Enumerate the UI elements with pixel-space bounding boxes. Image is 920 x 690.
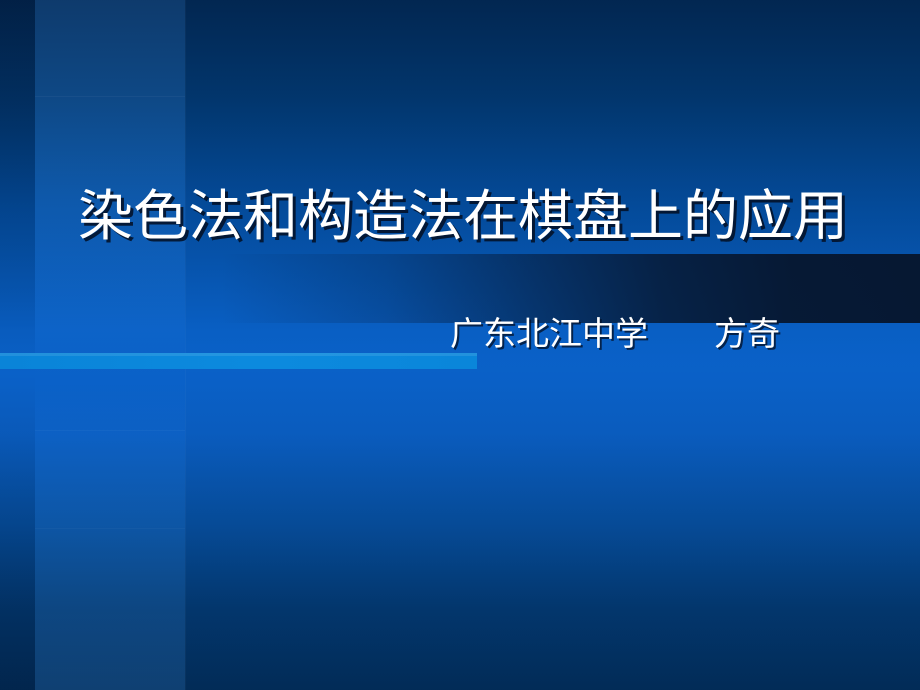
mid-light-vertical-band [35,0,185,690]
band-seam-horizontal-bottom [35,528,185,529]
cyan-accent-bar [0,353,477,369]
slide-subtitle: 广东北江中学 方奇 [450,313,780,357]
left-dark-vertical-strip [0,0,35,690]
band-seam-horizontal-lower [35,430,185,431]
band-seam-vertical [185,0,186,690]
slide-title: 染色法和构造法在棋盘上的应用 [78,182,848,252]
band-seam-horizontal-upper [35,96,185,97]
presentation-title-slide: 染色法和构造法在棋盘上的应用 广东北江中学 方奇 [0,0,920,690]
